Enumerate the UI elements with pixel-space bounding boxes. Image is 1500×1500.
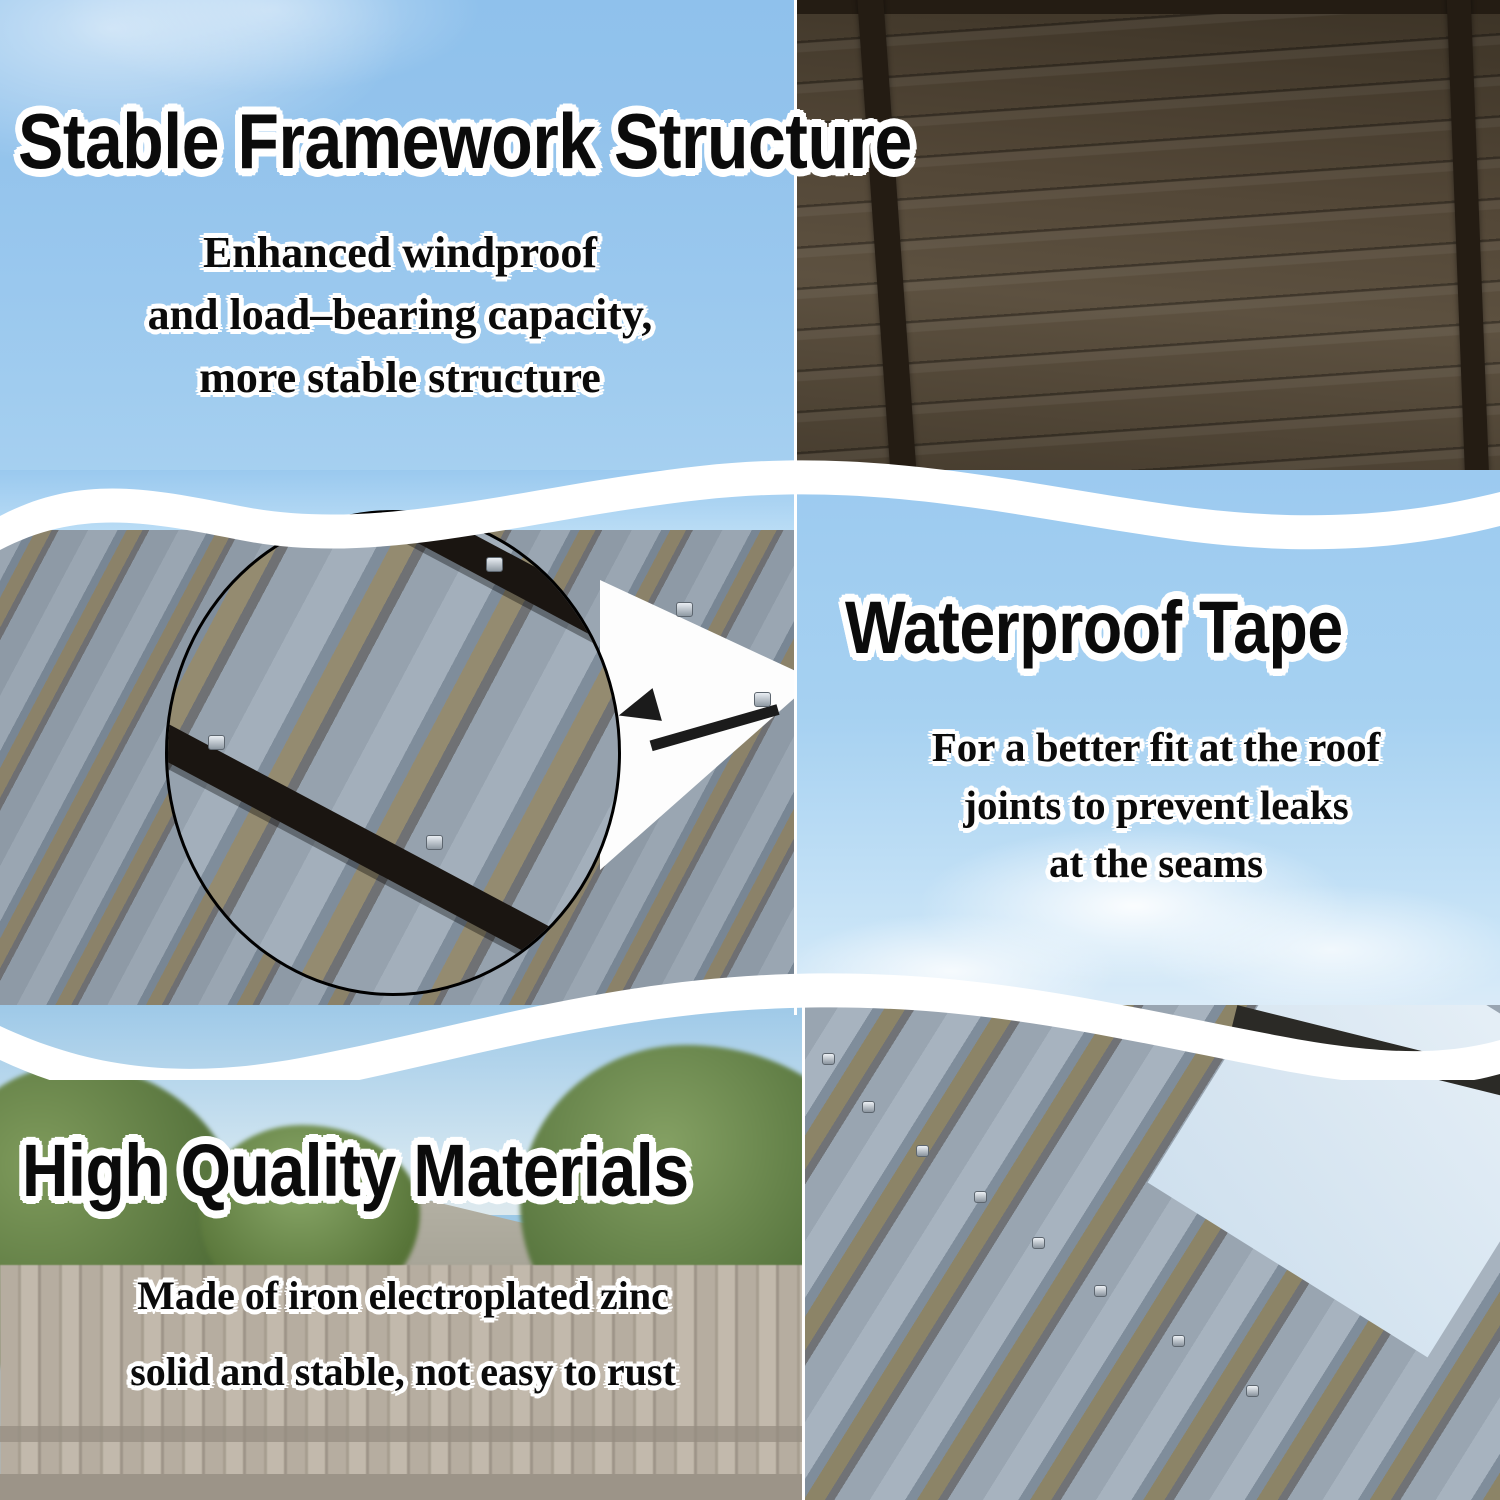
feature-body-2: For a better fit at the roof joints to p… [826, 718, 1486, 893]
feature-body-2-line-2: joints to prevent leaks [826, 776, 1486, 834]
panel-seam-top [794, 0, 797, 470]
roof-screw [676, 602, 693, 617]
photo-metal-roof-panels [804, 1005, 1500, 1500]
feature-body-2-line-3: at the seams [826, 834, 1486, 892]
feature-body-3-line-2: solid and stable, not easy to rust [8, 1334, 798, 1410]
support-beam-left [856, 0, 921, 480]
roof-screw [862, 1101, 875, 1113]
panel-seam-bottom [802, 1005, 805, 1500]
magnifier-circle [165, 510, 621, 996]
roof-screw [754, 692, 771, 707]
roof-screw [1246, 1385, 1259, 1397]
roof-screw [486, 557, 503, 572]
roof-screw [426, 835, 443, 850]
roof-screw [1094, 1285, 1107, 1297]
feature-body-1: Enhanced windproof and load–bearing capa… [60, 222, 740, 409]
feature-body-3-line-1: Made of iron electroplated zinc [8, 1258, 798, 1334]
feature-body-3: Made of iron electroplated zinc solid an… [8, 1258, 798, 1410]
feature-headline-2: Waterproof Tape [845, 585, 1343, 670]
roof-screw [822, 1053, 835, 1065]
feature-headline-3: High Quality Materials [22, 1128, 689, 1213]
feature-headline-1: Stable Framework Structure [18, 96, 912, 187]
feature-body-1-line-1: Enhanced windproof [60, 222, 740, 284]
photo-roof-seam-closeup [0, 470, 796, 1015]
support-beam-right [1446, 0, 1491, 480]
ceiling-edge-beam [796, 0, 1500, 14]
feature-body-2-line-1: For a better fit at the roof [826, 718, 1486, 776]
photo-backyard-fence [0, 1005, 804, 1500]
feature-body-1-line-3: more stable structure [60, 347, 740, 409]
roof-screw [916, 1145, 929, 1157]
product-feature-poster: Stable Framework Structure Enhanced wind… [0, 0, 1500, 1500]
fence-rail [0, 1426, 804, 1442]
roof-screw [1032, 1237, 1045, 1249]
seam-tape-band-top [165, 510, 621, 701]
feature-body-1-line-2: and load–bearing capacity, [60, 284, 740, 346]
ground-strip [0, 1474, 804, 1500]
roof-screw [1172, 1335, 1185, 1347]
roof-screw [974, 1191, 987, 1203]
panel-seam-middle [794, 470, 797, 1015]
photo-carport-ceiling [796, 0, 1500, 480]
seam-tape-band-bottom [165, 667, 621, 996]
roof-screw [208, 735, 225, 750]
